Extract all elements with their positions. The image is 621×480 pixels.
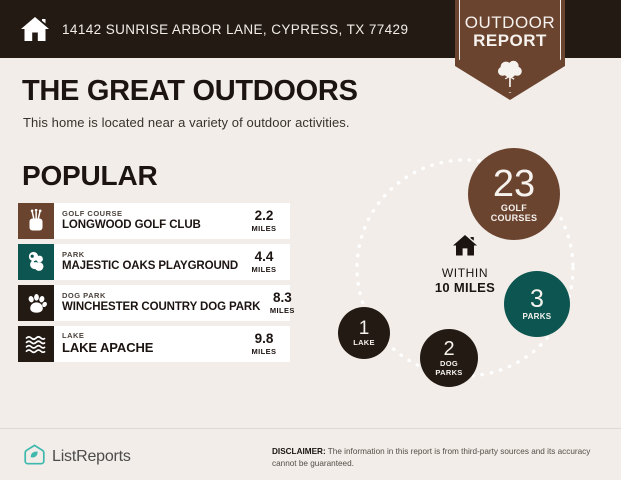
count-value: 23 [493,165,535,203]
distance-unit: MILES [270,306,295,315]
home-icon [18,14,52,44]
list-item-name: LAKE APACHE [62,341,242,356]
list-item-body: LAKE LAKE APACHE [54,326,242,362]
listreports-house-leaf-icon [24,444,45,470]
list-item-body: PARK MAJESTIC OAKS PLAYGROUND [54,244,242,280]
count-label-line2: COURSES [491,214,538,224]
count-circle-dog-parks[interactable]: 2 DOG PARKS [420,329,478,387]
list-item-name: WINCHESTER COUNTRY DOG PARK [62,301,260,314]
listreports-logo-text: ListReports [52,448,131,466]
water-waves-icon [18,326,54,362]
distance-unit: MILES [252,347,277,356]
count-value: 3 [530,287,544,312]
list-item-distance: 9.8 MILES [242,326,290,362]
distance-value: 8.3 [273,291,292,305]
list-item-body: DOG PARK WINCHESTER COUNTRY DOG PARK [54,285,260,321]
list-item[interactable]: GOLF COURSE LONGWOOD GOLF CLUB 2.2 MILES [18,203,290,239]
distance-unit: MILES [252,265,277,274]
badge-line-2: REPORT [455,32,565,50]
list-item-category: DOG PARK [62,292,260,300]
page-title: THE GREAT OUTDOORS [22,75,358,108]
footer-divider [0,428,621,429]
count-label-line1: PARKS [523,313,552,322]
list-item-name: MAJESTIC OAKS PLAYGROUND [62,260,242,273]
distance-value: 4.4 [255,250,274,264]
page-subtitle: This home is located near a variety of o… [23,115,350,130]
list-item[interactable]: PARK MAJESTIC OAKS PLAYGROUND 4.4 MILES [18,244,290,280]
badge-text: OUTDOOR REPORT [455,14,565,51]
golf-bag-icon [18,203,54,239]
count-value: 2 [443,339,454,359]
count-label-line1: LAKE [353,339,375,347]
diagram-center: WITHIN 10 MILES [405,234,525,295]
list-item-name: LONGWOOD GOLF CLUB [62,219,242,232]
count-circle-parks[interactable]: 3 PARKS [504,271,570,337]
disclaimer: DISCLAIMER: The information in this repo… [272,446,602,470]
list-item[interactable]: DOG PARK WINCHESTER COUNTRY DOG PARK 8.3… [18,285,290,321]
proximity-diagram: WITHIN 10 MILES 23 GOLF COURSES 3 PARKS … [320,140,610,415]
list-item-distance: 2.2 MILES [242,203,290,239]
distance-unit: MILES [252,224,277,233]
list-item-distance: 8.3 MILES [260,285,308,321]
distance-value: 9.8 [255,332,274,346]
list-item[interactable]: LAKE LAKE APACHE 9.8 MILES [18,326,290,362]
popular-list: GOLF COURSE LONGWOOD GOLF CLUB 2.2 MILES… [18,203,290,367]
list-item-distance: 4.4 MILES [242,244,290,280]
list-item-category: GOLF COURSE [62,210,242,218]
within-label: WITHIN [405,266,525,280]
paw-print-icon [18,285,54,321]
count-circle-lake[interactable]: 1 LAKE [338,307,390,359]
badge-line-1: OUTDOOR [455,14,565,32]
distance-value: 2.2 [255,209,274,223]
home-icon [452,244,478,261]
disclaimer-label: DISCLAIMER: [272,447,326,456]
count-label-line2: PARKS [435,369,462,377]
list-item-category: PARK [62,251,242,259]
list-item-body: GOLF COURSE LONGWOOD GOLF CLUB [54,203,242,239]
count-value: 1 [359,319,370,338]
tree-icon [455,58,565,93]
count-circle-golf-courses[interactable]: 23 GOLF COURSES [468,148,560,240]
popular-heading: POPULAR [22,160,158,192]
park-tree-icon [18,244,54,280]
listreports-logo[interactable]: ListReports [24,444,131,470]
property-address: 14142 SUNRISE ARBOR LANE, CYPRESS, TX 77… [62,22,408,37]
